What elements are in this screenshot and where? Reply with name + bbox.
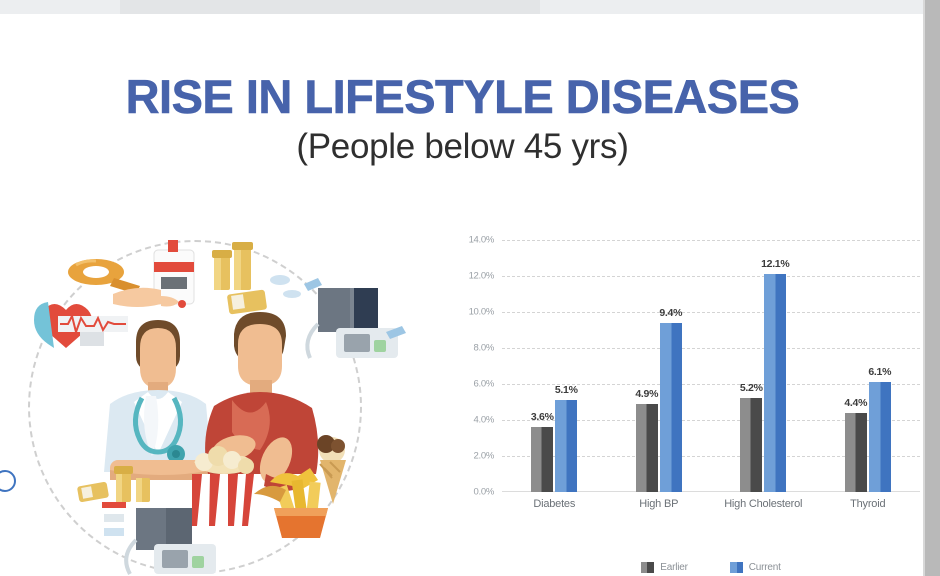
bar-value-label: 4.9% [635,388,658,400]
legend-swatch [641,562,654,573]
bar-value-label: 5.1% [555,384,578,396]
medical-device-icon [113,240,194,308]
bar-value-label: 4.4% [844,397,867,409]
bar-high-cholesterol-current: 12.1% [764,274,786,492]
bar-fill [531,427,553,492]
legend-item-earlier[interactable]: Earlier [641,562,688,573]
legend-item-current[interactable]: Current [730,562,781,573]
corner-circle-mark [0,470,16,492]
bar-group: 3.6%5.1% [502,240,607,492]
x-axis-label-high-bp: High BP [607,498,712,512]
infographic-page: RISE IN LIFESTYLE DISEASES (People below… [0,0,925,576]
ice-cream-cone-icon [317,435,346,504]
plot-area: 3.6%5.1%4.9%9.4%5.2%12.1%4.4%6.1% [502,240,920,492]
y-axis-tick-label: 12.0% [469,271,494,282]
title-block: RISE IN LIFESTYLE DISEASES (People below… [0,72,925,167]
lifestyle-diseases-illustration [18,232,418,576]
bar-diabetes-current: 5.1% [555,400,577,492]
blood-pressure-monitor-icon [307,288,406,358]
bar-value-label: 5.2% [740,382,763,394]
illustration-graphics [18,232,418,576]
x-axis-label-thyroid: Thyroid [816,498,921,512]
popcorn-bucket-icon [192,446,254,526]
y-axis-tick-label: 6.0% [474,379,494,390]
bar-fill [660,323,682,492]
x-axis-category-labels: DiabetesHigh BPHigh CholesterolThyroid [502,498,920,544]
y-axis-tick-label: 8.0% [474,343,494,354]
x-axis-label-diabetes: Diabetes [502,498,607,512]
y-axis-tick-label: 10.0% [469,307,494,318]
bar-value-label: 3.6% [531,411,554,423]
y-axis-tick-label: 4.0% [474,415,494,426]
pill-bottles-icon [212,242,322,315]
bar-fill [764,274,786,492]
legend-label: Current [749,562,781,573]
bar-high-bp-current: 9.4% [660,323,682,492]
bar-group: 4.4%6.1% [816,240,921,492]
scrollbar-track[interactable] [925,0,940,576]
legend-swatch [730,562,743,573]
bar-fill [636,404,658,492]
bar-fill [555,400,577,492]
bar-high-cholesterol-earlier: 5.2% [740,398,762,492]
lifestyle-diseases-bar-chart: 0.0%2.0%4.0%6.0%8.0%10.0%12.0%14.0% 3.6%… [450,240,920,576]
bar-high-bp-earlier: 4.9% [636,404,658,492]
measuring-tape-icon [68,259,140,294]
page-title: RISE IN LIFESTYLE DISEASES [0,72,925,121]
bar-value-label: 9.4% [659,307,682,319]
bar-group: 5.2%12.1% [711,240,816,492]
bar-fill [869,382,891,492]
top-banner-inner [120,0,540,14]
y-axis-labels: 0.0%2.0%4.0%6.0%8.0%10.0%12.0%14.0% [450,240,494,492]
x-axis-label-high-cholesterol: High Cholesterol [711,498,816,512]
top-banner-strip [0,0,925,14]
bar-thyroid-current: 6.1% [869,382,891,492]
legend-label: Earlier [660,562,688,573]
chart-legend: EarlierCurrent [502,558,920,576]
bar-value-label: 6.1% [868,366,891,378]
y-axis-tick-label: 2.0% [474,451,494,462]
bar-thyroid-earlier: 4.4% [845,413,867,492]
heart-ecg-icon [34,302,128,348]
bar-value-label: 12.1% [761,258,789,270]
bar-group: 4.9%9.4% [607,240,712,492]
bar-diabetes-earlier: 3.6% [531,427,553,492]
y-axis-tick-label: 14.0% [469,235,494,246]
page-subtitle: (People below 45 yrs) [0,127,925,167]
y-axis-tick-label: 0.0% [474,487,494,498]
bar-fill [845,413,867,492]
bar-fill [740,398,762,492]
